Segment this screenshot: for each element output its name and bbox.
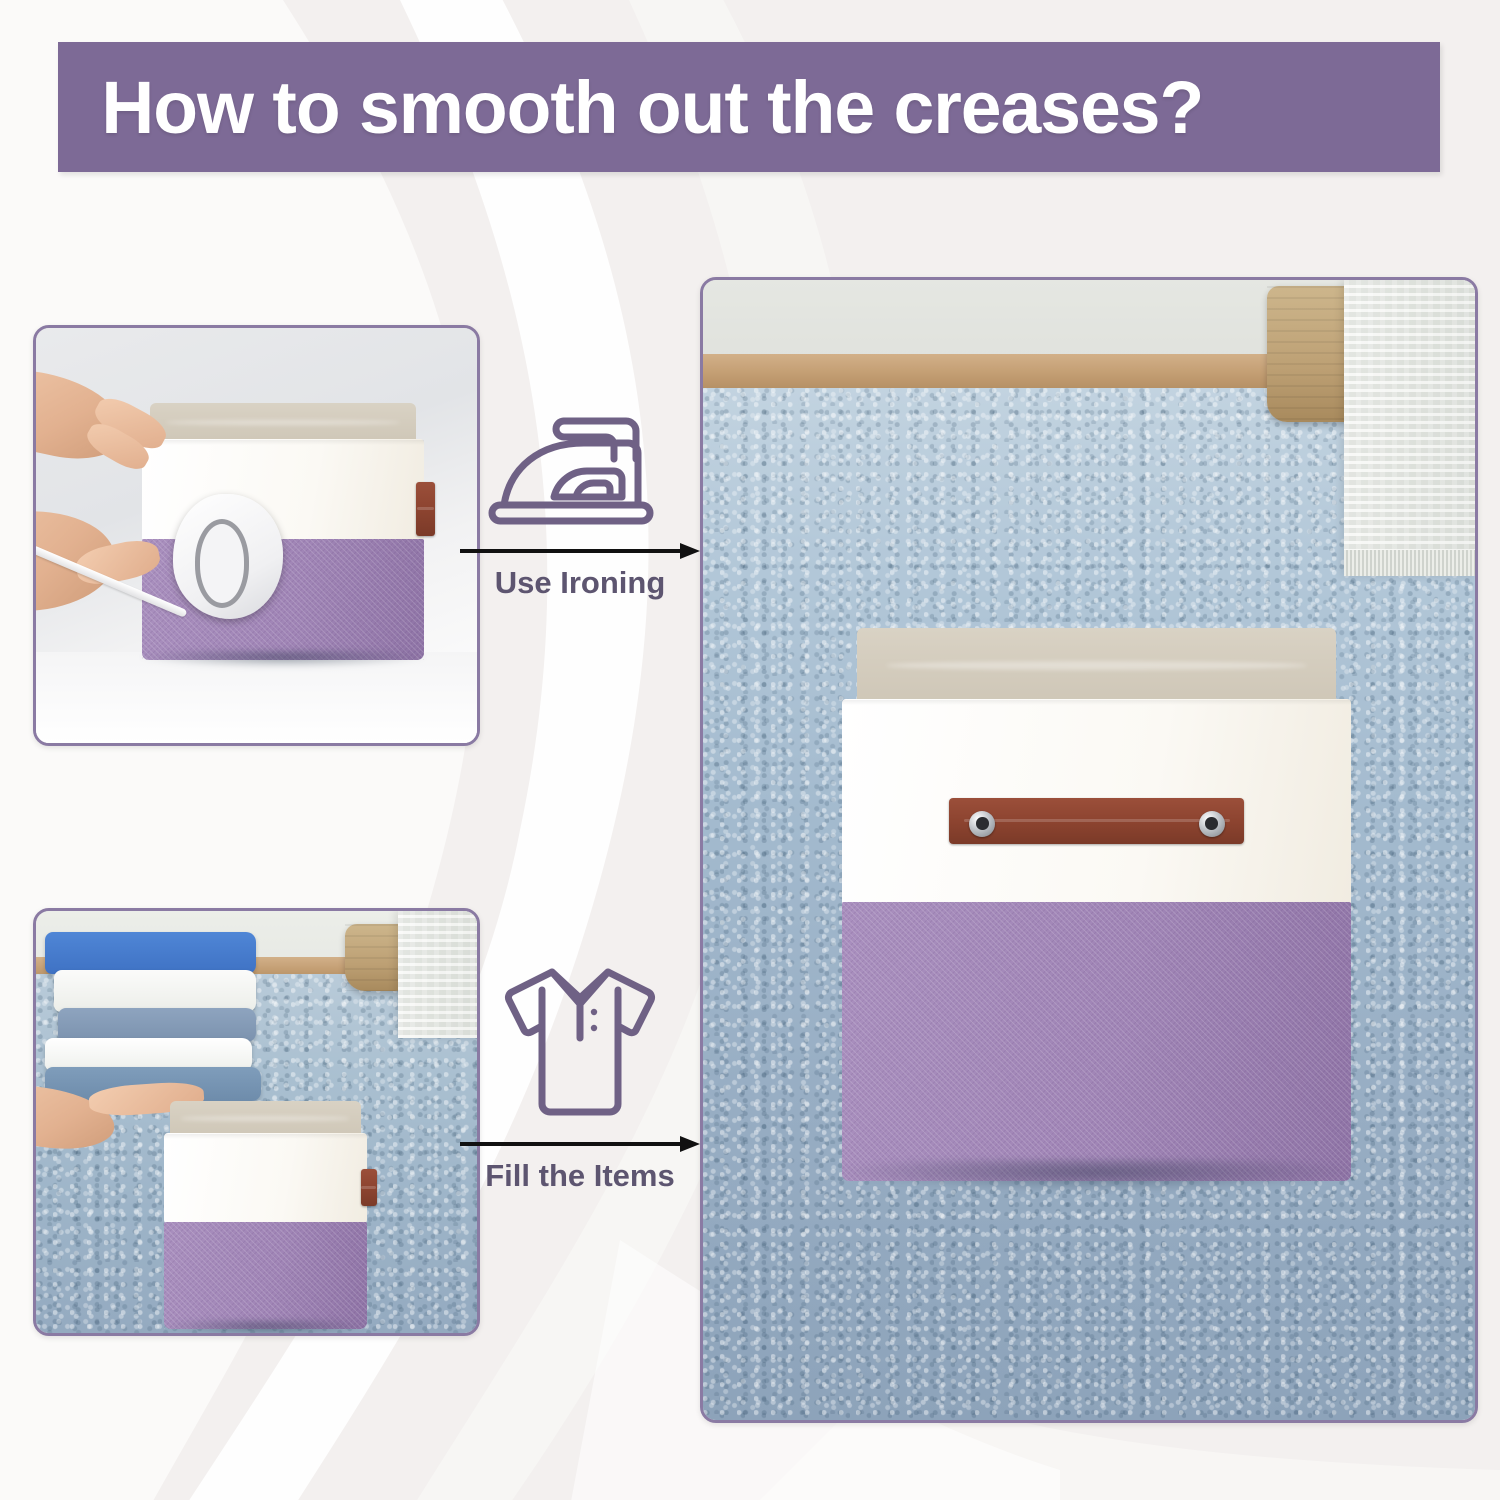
right-arrow-icon xyxy=(460,543,700,559)
arrow-row-ironing xyxy=(455,543,705,557)
step-photo-use-ironing xyxy=(33,325,480,746)
linen-weave-texture xyxy=(842,902,1352,1181)
product-storage-bin xyxy=(842,633,1352,1180)
right-arrow-icon xyxy=(460,1136,700,1152)
linen-weave-texture xyxy=(164,1222,367,1329)
bin-drop-shadow xyxy=(136,650,430,668)
product-storage-bin xyxy=(164,1101,367,1329)
page-title: How to smooth out the creases? xyxy=(64,65,1204,150)
bin-purple-linen-section xyxy=(842,902,1352,1181)
curtain-fringe xyxy=(1344,550,1475,576)
step-caption-use-ironing: Use Ironing xyxy=(455,565,705,601)
folded-item-white-knit xyxy=(54,970,257,1012)
bin-side-leather-tab xyxy=(416,482,436,536)
folded-item-blue-top xyxy=(45,932,257,974)
step-photo-fill-the-items xyxy=(33,908,480,1336)
curtain-knit-texture xyxy=(1344,280,1475,576)
bin-purple-linen-section xyxy=(164,1222,367,1329)
folded-item-grey-ribbed xyxy=(58,1008,256,1042)
bin-white-canvas-section xyxy=(164,1133,367,1224)
white-curtain xyxy=(1344,280,1475,576)
hero-product-photo xyxy=(700,277,1478,1423)
step-fill-the-items: Fill the Items xyxy=(455,960,705,1194)
bin-drop-shadow xyxy=(832,1159,1362,1192)
steamer-soleplate xyxy=(195,519,249,608)
handle-grommet-left xyxy=(969,811,995,837)
photo-scene-hero xyxy=(703,280,1475,1420)
photo-scene-filling xyxy=(36,911,477,1333)
polo-shirt-icon xyxy=(490,960,670,1126)
arrow-row-fill xyxy=(455,1136,705,1150)
bin-drop-shadow xyxy=(160,1320,371,1333)
bin-side-leather-tab xyxy=(361,1169,377,1205)
iron-icon xyxy=(480,405,680,533)
step-caption-fill-the-items: Fill the Items xyxy=(455,1158,705,1194)
photo-scene-steaming xyxy=(36,328,477,743)
header-banner: How to smooth out the creases? xyxy=(58,42,1440,172)
step-use-ironing: Use Ironing xyxy=(455,405,705,601)
infographic-canvas: How to smooth out the creases? xyxy=(0,0,1500,1500)
handle-grommet-right xyxy=(1199,811,1225,837)
